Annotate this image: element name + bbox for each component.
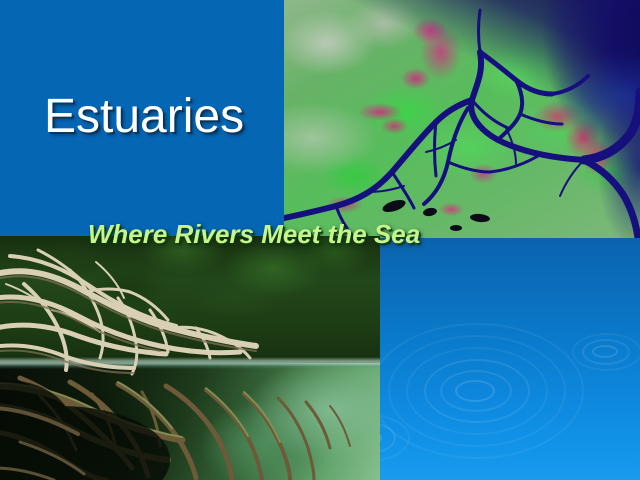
satellite-river-delta-image bbox=[284, 0, 640, 238]
satellite-river-channels bbox=[284, 0, 640, 238]
presentation-slide: Estuaries Where Rivers Meet the Sea bbox=[0, 0, 640, 480]
ripple-ring bbox=[572, 333, 640, 371]
water-ripples-panel bbox=[380, 237, 640, 480]
ripple-ring bbox=[380, 323, 584, 459]
slide-title: Estuaries bbox=[44, 92, 244, 142]
mangrove-prop-roots bbox=[0, 236, 380, 480]
slide-subtitle: Where Rivers Meet the Sea bbox=[0, 219, 640, 250]
mangrove-roots-photo bbox=[0, 236, 380, 480]
